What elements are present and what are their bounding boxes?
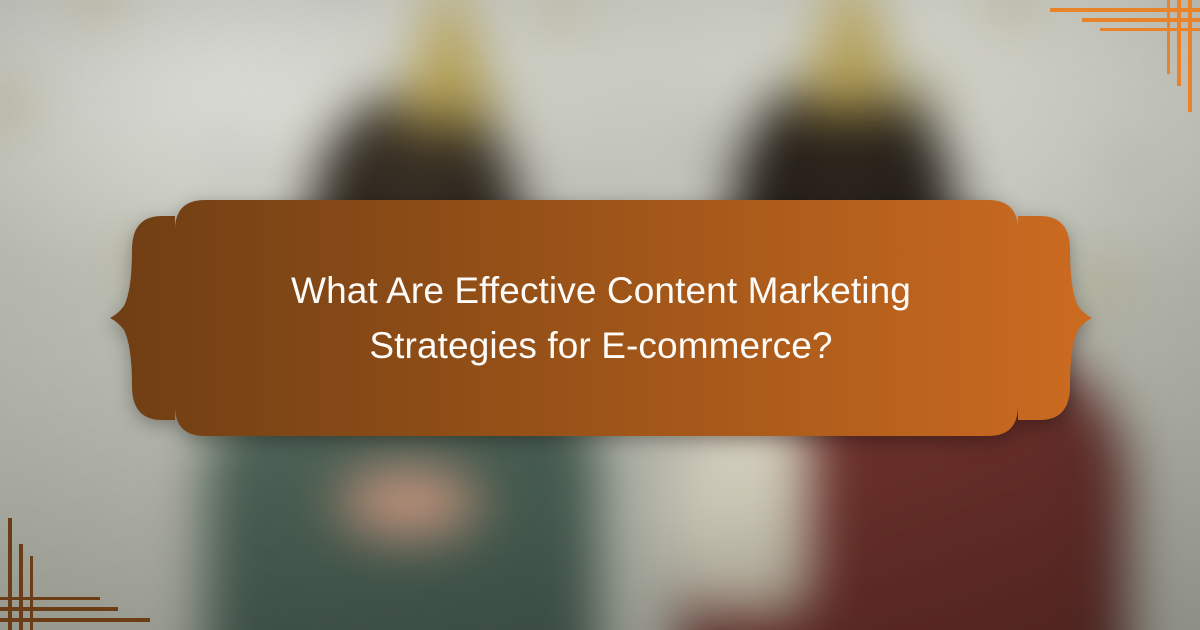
corner-line-h2	[0, 607, 118, 611]
corner-line-v1	[8, 518, 12, 630]
title-banner: What Are Effective Content Marketing Str…	[110, 198, 1092, 438]
corner-line-h3	[0, 597, 100, 600]
corner-line-v3	[30, 556, 33, 630]
corner-ornament-bottom-left	[0, 518, 150, 630]
corner-line-h2	[1082, 18, 1200, 22]
corner-line-h3	[1100, 28, 1200, 31]
corner-line-v3	[1167, 0, 1170, 74]
corner-line-v1	[1188, 0, 1192, 112]
banner-title-block: What Are Effective Content Marketing Str…	[110, 198, 1092, 438]
corner-line-v2	[19, 544, 23, 630]
page-title-line-2: Strategies for E-commerce?	[369, 318, 832, 374]
corner-line-v2	[1177, 0, 1181, 86]
corner-ornament-top-right	[1050, 0, 1200, 112]
share-card: What Are Effective Content Marketing Str…	[0, 0, 1200, 630]
page-title-line-1: What Are Effective Content Marketing	[291, 263, 911, 319]
